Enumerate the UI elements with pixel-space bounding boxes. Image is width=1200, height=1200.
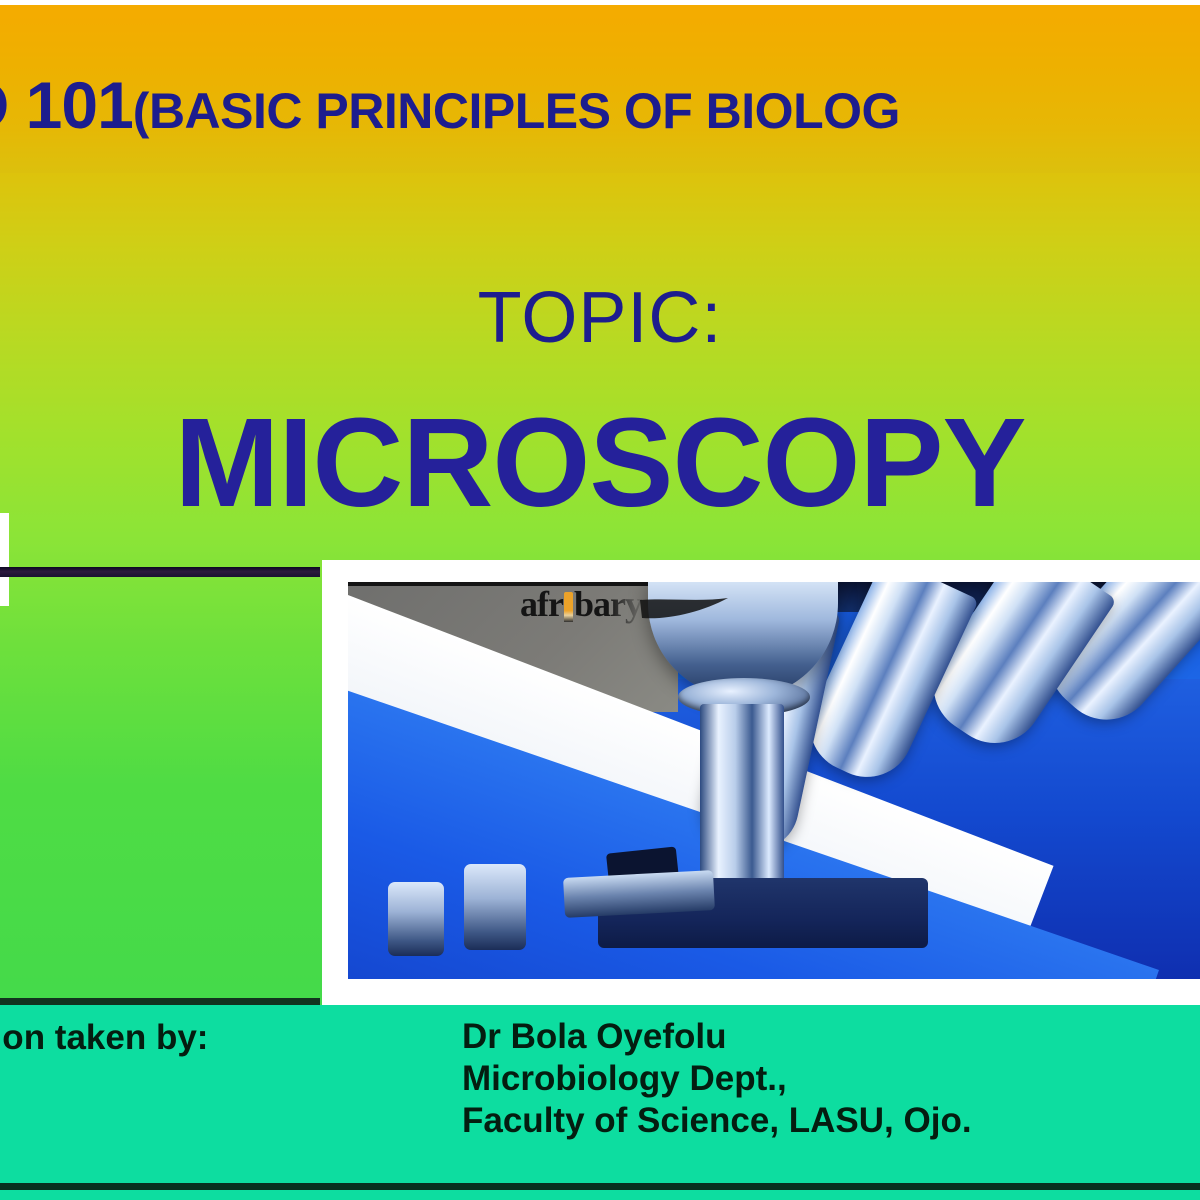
presenter-details: Dr Bola Oyefolu Microbiology Dept., Facu… — [462, 1016, 972, 1142]
microscope-slide-clip — [563, 870, 715, 918]
footer-label: ection taken by: — [0, 1018, 362, 1058]
pencil-icon — [564, 592, 573, 622]
presenter-faculty: Faculty of Science, LASU, Ojo. — [462, 1100, 972, 1142]
topic-title: MICROSCOPY — [0, 400, 1200, 526]
topic-label: TOPIC: — [0, 282, 1200, 354]
presenter-department: Microbiology Dept., — [462, 1058, 972, 1100]
microscope-photo: afrbary — [348, 582, 1200, 979]
watermark-text-left: afr — [520, 584, 563, 624]
course-subtitle: (BASIC PRINCIPLES OF BIOLOG — [133, 83, 900, 139]
divider-line-bottom — [0, 998, 320, 1005]
left-white-notch-lower — [0, 578, 9, 606]
course-title: O 101(BASIC PRINCIPLES OF BIOLOG — [0, 72, 1200, 138]
afribary-watermark: afrbary — [520, 586, 642, 622]
photo-frame: afrbary — [322, 560, 1200, 1005]
divider-line-top — [0, 567, 320, 577]
microscope-knob-2 — [464, 864, 526, 950]
watermark-swoosh-icon — [638, 596, 730, 622]
presenter-name: Dr Bola Oyefolu — [462, 1016, 972, 1058]
presentation-slide: O 101(BASIC PRINCIPLES OF BIOLOG TOPIC: … — [0, 0, 1200, 1200]
footer-divider-line — [0, 1183, 1200, 1190]
microscope-knob-1 — [388, 882, 444, 956]
course-code: O 101 — [0, 68, 133, 142]
watermark-text-right: ba — [574, 584, 610, 624]
